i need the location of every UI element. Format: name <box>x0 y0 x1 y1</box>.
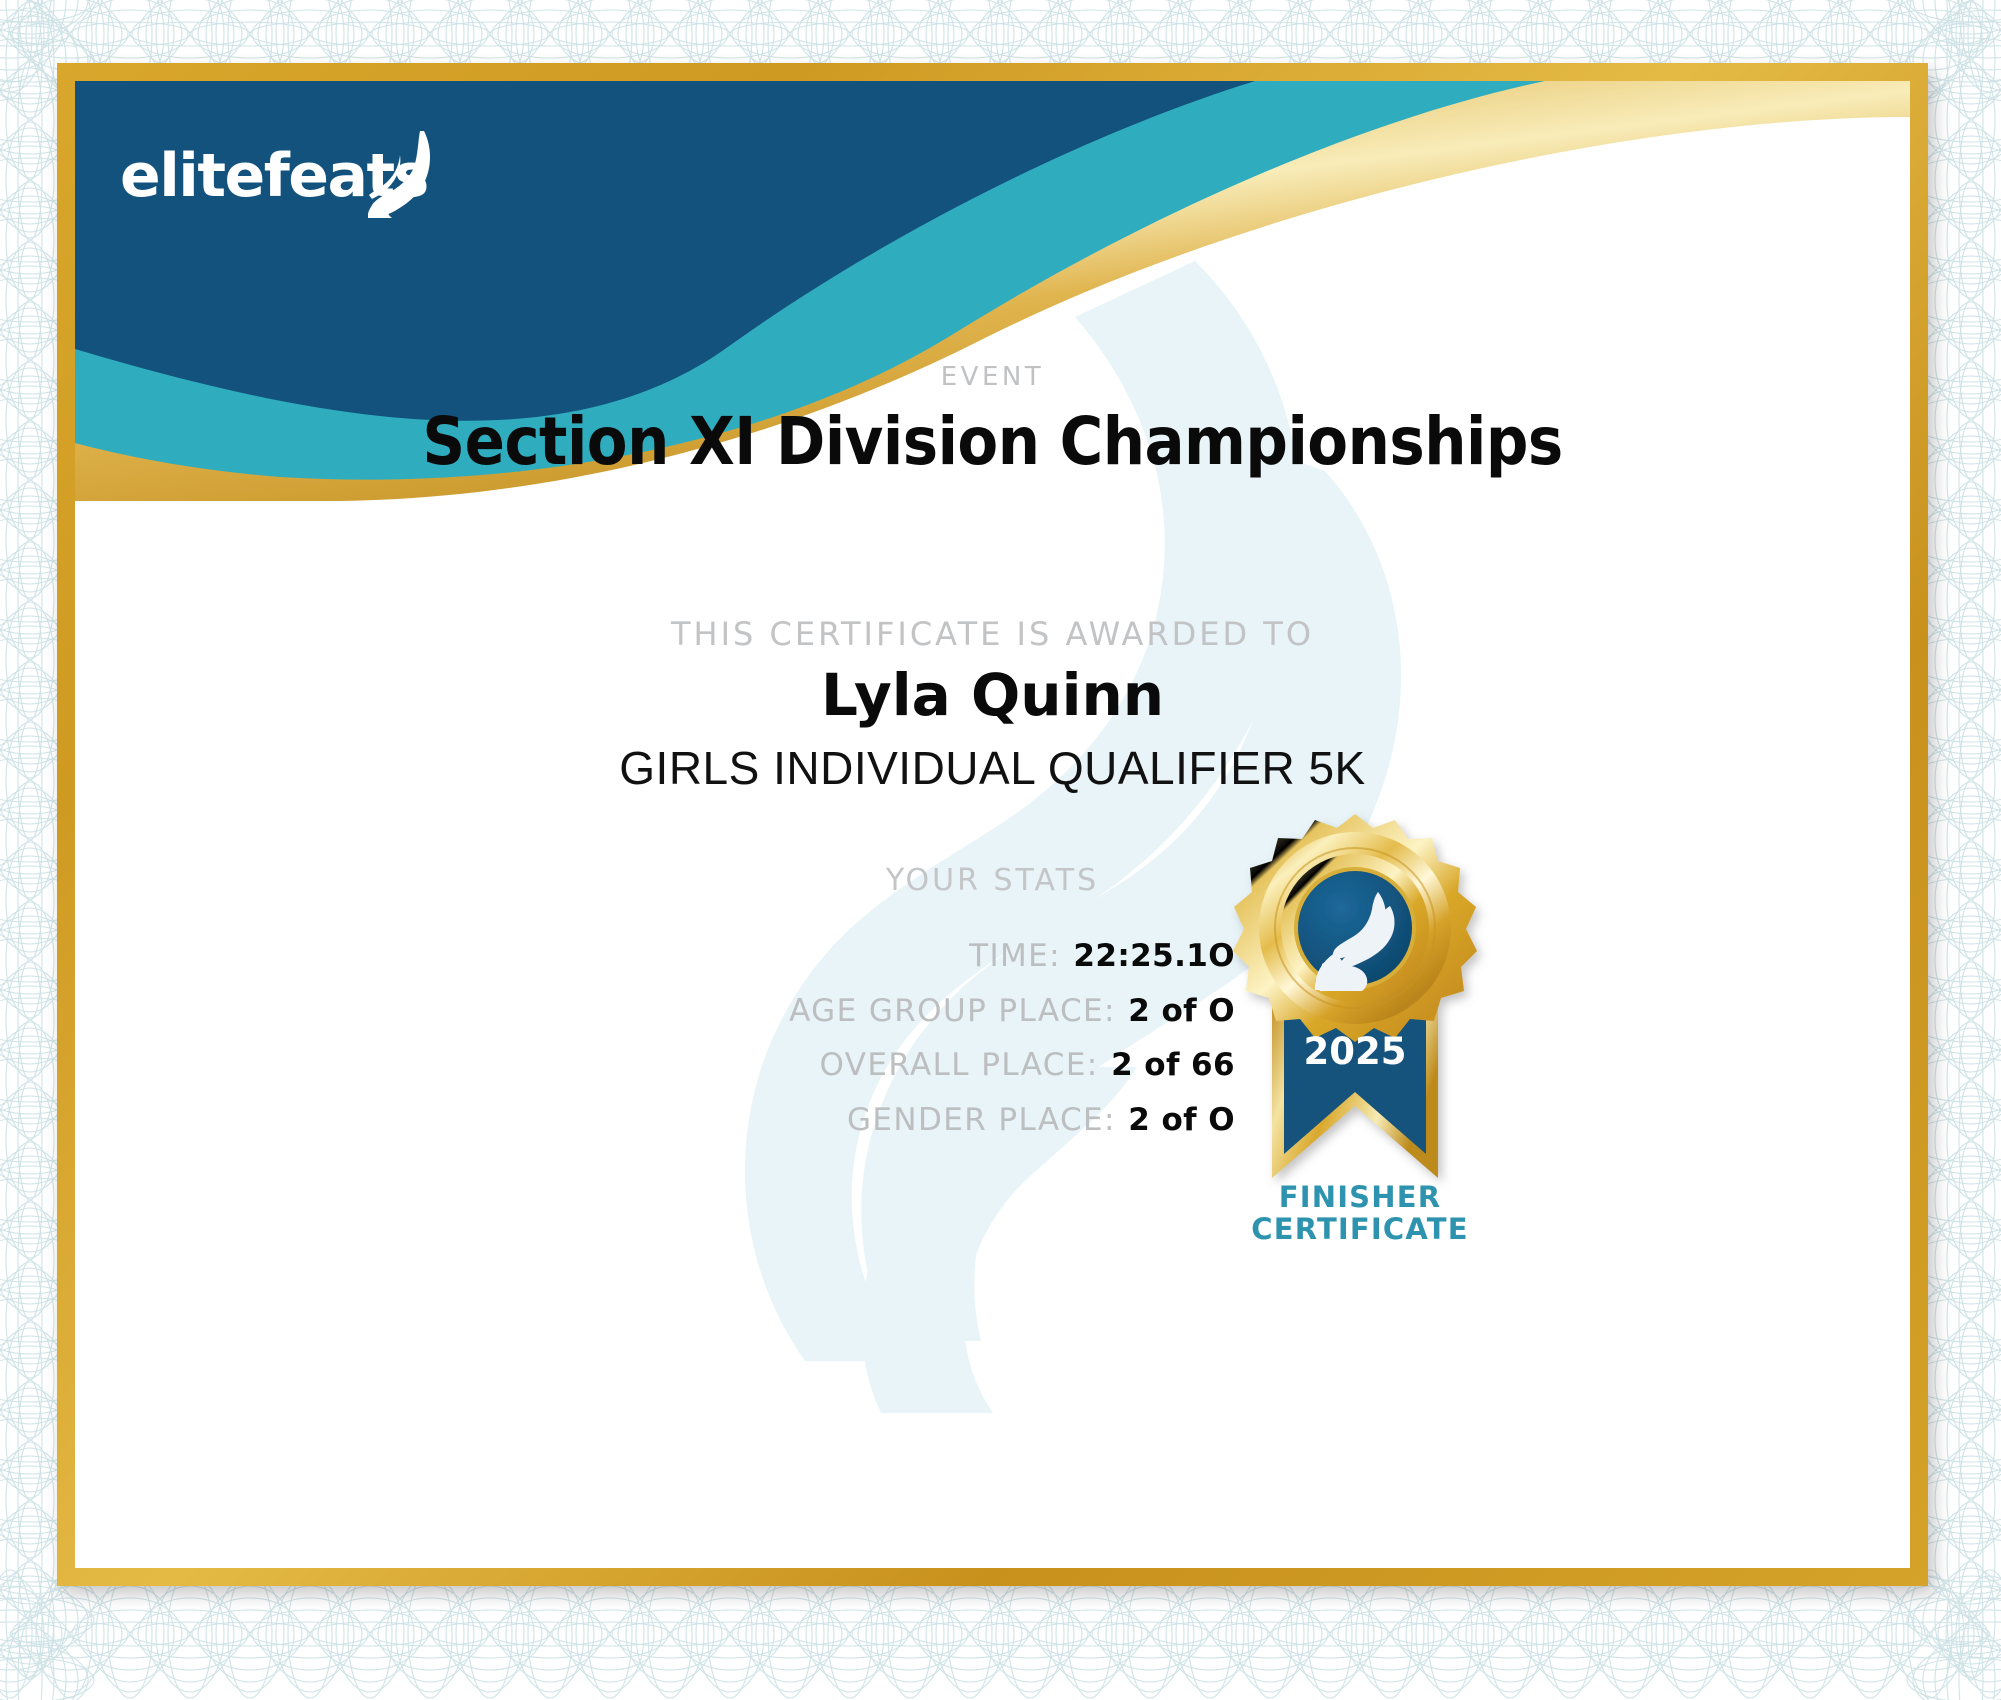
elitefeats-logo: elitefeats <box>120 131 460 241</box>
stats-list: TIME: 22:25.1O AGE GROUP PLACE: 2 of O O… <box>75 939 1235 1158</box>
stat-row-overall-place: OVERALL PLACE: 2 of 66 <box>75 1048 1235 1084</box>
event-label: EVENT <box>75 362 1910 392</box>
winged-foot-icon <box>362 127 440 219</box>
certificate-page: elitefeats EVENT Section XI Division Cha… <box>0 0 2001 1700</box>
stat-label: OVERALL PLACE: <box>820 1047 1099 1083</box>
stat-row-gender-place: GENDER PLACE: 2 of O <box>75 1103 1235 1139</box>
badge-caption: FINISHER CERTIFICATE <box>1170 1181 1550 1246</box>
finisher-medal-badge: 2025 <box>1210 806 1500 1236</box>
recipient-name: Lyla Quinn <box>75 661 1910 729</box>
stat-row-time: TIME: 22:25.1O <box>75 939 1235 975</box>
stat-label: GENDER PLACE: <box>847 1102 1116 1138</box>
certificate-card: elitefeats EVENT Section XI Division Cha… <box>75 81 1910 1568</box>
badge-caption-line2: CERTIFICATE <box>1170 1213 1550 1245</box>
certificate-gold-frame: elitefeats EVENT Section XI Division Cha… <box>57 63 1928 1586</box>
stat-label: TIME: <box>969 938 1061 974</box>
badge-caption-line1: FINISHER <box>1170 1181 1550 1213</box>
badge-year-text: 2025 <box>1304 1030 1407 1073</box>
stat-row-age-group-place: AGE GROUP PLACE: 2 of O <box>75 994 1235 1030</box>
stat-label: AGE GROUP PLACE: <box>789 993 1116 1029</box>
certificate-content: EVENT Section XI Division Championships … <box>75 81 1910 1568</box>
race-category: GIRLS INDIVIDUAL QUALIFIER 5K <box>75 741 1910 795</box>
event-title: Section XI Division Championships <box>75 403 1910 480</box>
awarded-to-label: THIS CERTIFICATE IS AWARDED TO <box>75 615 1910 653</box>
stats-section-label: YOUR STATS <box>75 863 1910 898</box>
